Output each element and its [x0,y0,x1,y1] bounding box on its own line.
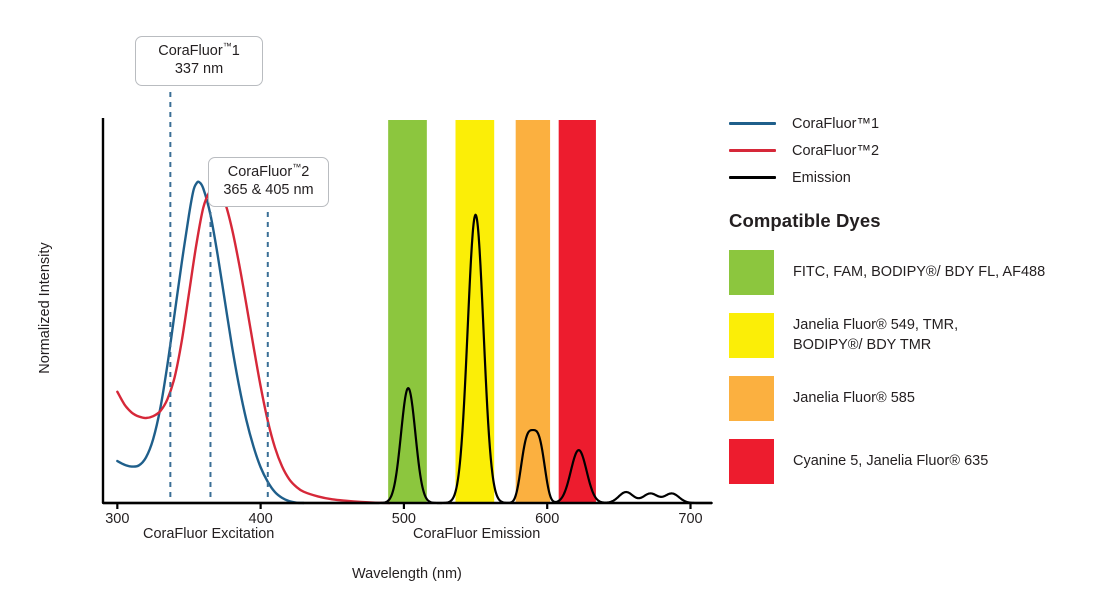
callout-value-1: 337 nm [146,61,252,79]
dye-item-2[interactable]: Janelia Fluor® 585 [729,376,1104,421]
green-band [388,120,427,503]
callout-value-2: 365 & 405 nm [219,182,318,200]
legend-label: CoraFluor™1 [792,116,879,132]
curve-corafluor2 [117,187,389,503]
legend-label: Emission [792,170,851,186]
red-band [559,120,596,503]
x-tick-label-600: 600 [527,511,567,527]
series-legend: CoraFluor™1CoraFluor™2Emission [729,110,1104,191]
legend-item-corafluor1[interactable]: CoraFluor™1 [729,110,1104,137]
x-tick-label-400: 400 [241,511,281,527]
legend-line-swatch [729,176,776,179]
band-group [388,120,596,503]
emission-section-label: CoraFluor Emission [413,526,540,542]
dye-item-1[interactable]: Janelia Fluor® 549, TMR,BODIPY®/ BDY TMR [729,313,1104,358]
legend-line-swatch [729,149,776,152]
legend: CoraFluor™1CoraFluor™2Emission Compatibl… [729,110,1104,484]
x-tick-label-700: 700 [671,511,711,527]
callout-title-2: CoraFluor™2 [219,164,318,182]
callout-title-1: CoraFluor™1 [146,43,252,61]
dye-item-3[interactable]: Cyanine 5, Janelia Fluor® 635 [729,439,1104,484]
dye-label: Janelia Fluor® 585 [793,389,915,408]
x-axis-label: Wavelength (nm) [352,566,462,582]
dye-label: FITC, FAM, BODIPY®/ BDY FL, AF488 [793,263,1045,282]
tm-symbol: ™ [292,162,301,172]
tm-symbol: ™ [223,41,232,51]
y-axis-label: Normalized Intensity [37,228,53,388]
dye-label: Janelia Fluor® 549, TMR,BODIPY®/ BDY TMR [793,316,958,354]
compatible-dyes-list: FITC, FAM, BODIPY®/ BDY FL, AF488Janelia… [729,250,1104,484]
dye-color-swatch [729,250,774,295]
excitation-section-label: CoraFluor Excitation [143,526,274,542]
compatible-dyes-heading: Compatible Dyes [729,210,1104,232]
legend-line-swatch [729,122,776,125]
dye-color-swatch [729,376,774,421]
legend-label: CoraFluor™2 [792,143,879,159]
x-tick-label-300: 300 [97,511,137,527]
dye-color-swatch [729,313,774,358]
dye-label: Cyanine 5, Janelia Fluor® 635 [793,452,988,471]
dye-item-0[interactable]: FITC, FAM, BODIPY®/ BDY FL, AF488 [729,250,1104,295]
x-tick-label-500: 500 [384,511,424,527]
callout-corafluor1: CoraFluor™1 337 nm [135,36,263,86]
orange-band [516,120,550,503]
dye-color-swatch [729,439,774,484]
legend-item-emission[interactable]: Emission [729,164,1104,191]
callout-corafluor2: CoraFluor™2 365 & 405 nm [208,157,329,207]
legend-item-corafluor2[interactable]: CoraFluor™2 [729,137,1104,164]
